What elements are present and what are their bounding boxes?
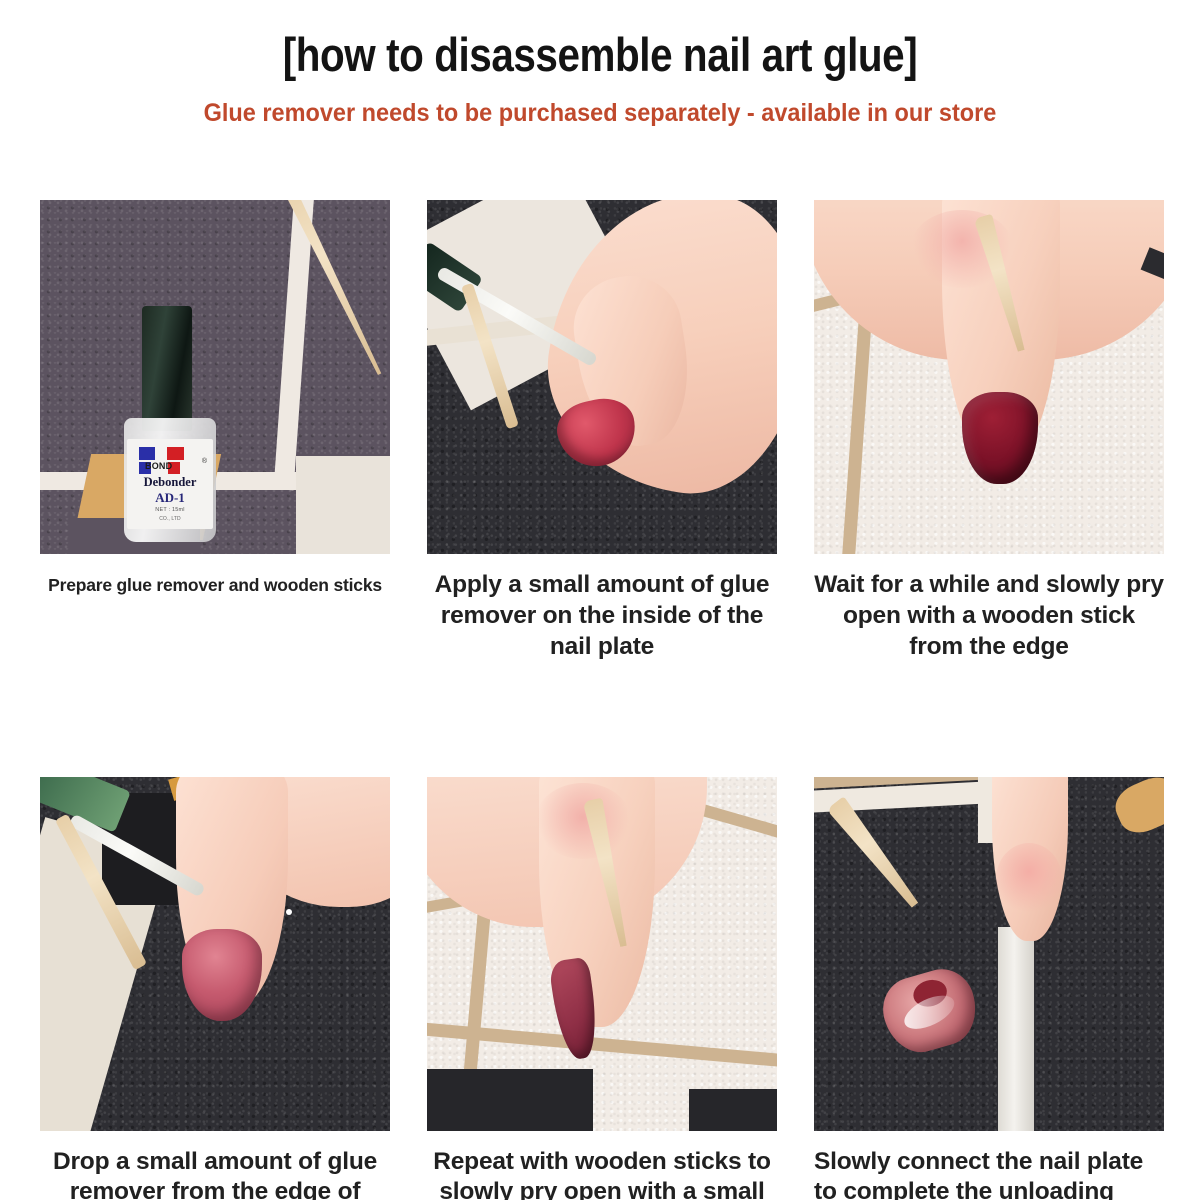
steps-grid: BOND ® Debonder AD-1 NET : 15ml CO., LTD… — [40, 200, 1164, 1200]
logo-square-red-1 — [167, 447, 184, 460]
step-card-6: Slowly connect the nail plate to complet… — [814, 777, 1164, 1200]
step-photo-1: BOND ® Debonder AD-1 NET : 15ml CO., LTD — [40, 200, 390, 554]
logo-square-blue-1 — [139, 447, 155, 460]
product-name-text: Debonder — [133, 475, 207, 490]
step-caption-6: Slowly connect the nail plate to complet… — [814, 1147, 1164, 1200]
debonder-bottle: BOND ® Debonder AD-1 NET : 15ml CO., LTD — [118, 306, 222, 542]
step-photo-3 — [814, 200, 1164, 554]
step-photo-2 — [427, 200, 777, 554]
brand-text: BOND — [145, 461, 172, 471]
fingertip-shading — [996, 843, 1062, 915]
cream-panel — [296, 456, 390, 554]
page-subtitle: Glue remover needs to be purchased separ… — [36, 100, 1164, 128]
step-photo-6 — [814, 777, 1164, 1131]
dark-block-left — [427, 1069, 593, 1131]
header: [how to disassemble nail art glue] Glue … — [0, 0, 1200, 128]
registered-mark: ® — [202, 458, 207, 465]
infographic-page: [how to disassemble nail art glue] Glue … — [0, 0, 1200, 1200]
knuckle-shading — [535, 783, 631, 859]
highlight-dot — [286, 909, 292, 915]
step-card-2: Apply a small amount of glue remover on … — [427, 200, 777, 663]
bottle-cap — [142, 306, 192, 431]
step-photo-5 — [427, 777, 777, 1131]
step-photo-4 — [40, 777, 390, 1131]
dark-block-right — [689, 1089, 777, 1131]
net-volume-text: NET : 15ml — [133, 507, 207, 513]
bottle-label: BOND ® Debonder AD-1 NET : 15ml CO., LTD — [127, 439, 213, 529]
product-code-text: AD-1 — [133, 490, 207, 506]
white-strip — [998, 927, 1034, 1131]
step-card-1: BOND ® Debonder AD-1 NET : 15ml CO., LTD… — [40, 200, 390, 663]
step-caption-4: Drop a small amount of glue remover from… — [40, 1147, 390, 1200]
company-text: CO., LTD — [129, 516, 211, 522]
step-card-3: Wait for a while and slowly pry open wit… — [814, 200, 1164, 663]
step-caption-5: Repeat with wooden sticks to slowly pry … — [427, 1147, 777, 1200]
step-caption-2: Apply a small amount of glue remover on … — [427, 570, 777, 663]
step-caption-1: Prepare glue remover and wooden sticks — [40, 574, 390, 596]
step-card-5: Repeat with wooden sticks to slowly pry … — [427, 777, 777, 1200]
page-title: [how to disassemble nail art glue] — [84, 30, 1116, 79]
step-caption-3: Wait for a while and slowly pry open wit… — [814, 570, 1164, 663]
step-card-4: Drop a small amount of glue remover from… — [40, 777, 390, 1200]
